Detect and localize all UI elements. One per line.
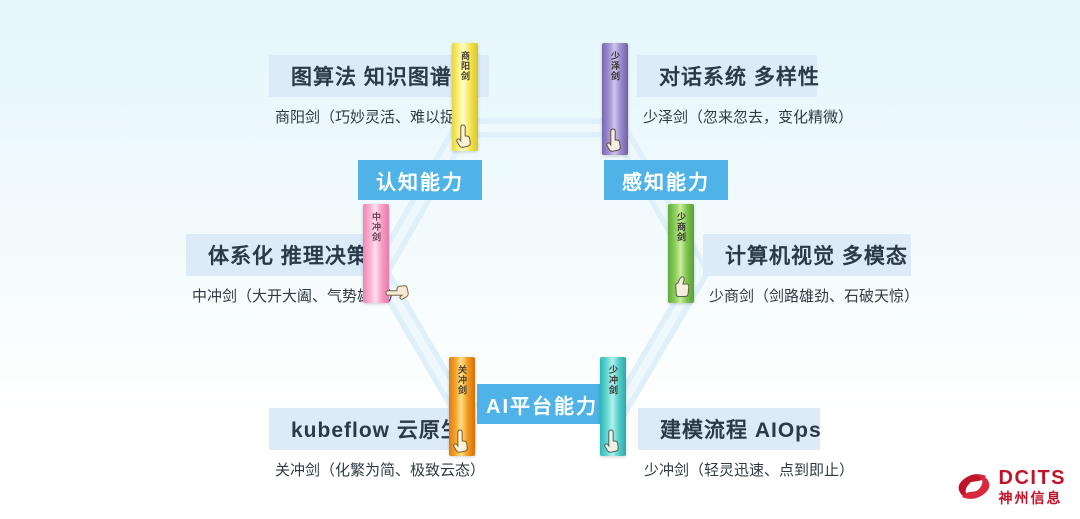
pointing-hand-icon [602, 427, 624, 453]
sword-label-shaoshang: 少商剑 [675, 212, 687, 242]
sword-label-shaoze: 少泽剑 [609, 51, 621, 81]
sword-label-guanchong: 关冲剑 [456, 365, 468, 395]
pointing-hand-icon [604, 126, 626, 152]
node-modeling-aiops: 建模流程 AIOps 少冲剑（轻灵迅速、点到即止） [638, 408, 820, 480]
node-kubeflow-cloudnative: kubeflow 云原生 关冲剑（化繁为简、极致云态） [269, 408, 476, 480]
sword-label-shaochong: 少冲剑 [607, 365, 619, 395]
sword-bar-shaoshang: 少商剑 [668, 204, 694, 303]
node-title-kubeflow: kubeflow 云原生 [291, 414, 463, 444]
node-title-band-computer-vision: 计算机视觉 多模态 [703, 234, 911, 276]
node-subtitle-computer-vision: 少商剑（剑路雄劲、石破天惊） [703, 285, 911, 306]
node-title-band-dialogue-system: 对话系统 多样性 [637, 55, 817, 97]
node-computer-vision: 计算机视觉 多模态 少商剑（剑路雄劲、石破天惊） [703, 234, 911, 306]
sword-bar-guanchong: 关冲剑 [449, 357, 475, 456]
side-pointing-hand-icon [383, 278, 411, 302]
slide-canvas: 图算法 知识图谱 商阳剑（巧妙灵活、难以捉摸） 商阳剑 少泽剑 对话系统 多样性… [0, 0, 1080, 519]
capability-chip-ai-platform-label: AI平台能力 [486, 390, 598, 419]
node-title-band-reasoning-decision: 体系化 推理决策 [186, 234, 382, 276]
node-title-band-modeling-aiops: 建模流程 AIOps [638, 408, 820, 450]
sword-bar-shangyang: 商阳剑 [452, 43, 478, 151]
node-subtitle-dialogue-system: 少泽剑（忽来忽去，变化精微） [637, 106, 817, 127]
capability-chip-perception-label: 感知能力 [622, 166, 710, 195]
pointing-hand-icon [454, 122, 476, 148]
sword-bar-shaochong: 少冲剑 [600, 357, 626, 456]
node-subtitle-modeling-aiops: 少冲剑（轻灵迅速、点到即止） [638, 459, 820, 480]
pointing-hand-icon [451, 427, 473, 453]
node-title-computer-vision: 计算机视觉 多模态 [725, 240, 908, 270]
thumbs-up-hand-icon [670, 274, 692, 300]
dcits-swirl-icon [956, 470, 992, 503]
sword-label-zhongchong: 中冲剑 [370, 212, 382, 242]
node-subtitle-reasoning-decision: 中冲剑（大开大阖、气势雄迈） [186, 285, 382, 306]
node-reasoning-decision: 体系化 推理决策 中冲剑（大开大阖、气势雄迈） [186, 234, 382, 306]
dcits-logo-cn: 神州信息 [999, 491, 1067, 505]
node-title-knowledge-graph: 图算法 知识图谱 [291, 61, 452, 91]
node-subtitle-kubeflow: 关冲剑（化繁为简、极致云态） [269, 459, 476, 480]
dcits-wordmark: DCITS 神州信息 [999, 468, 1067, 505]
dcits-logo: DCITS 神州信息 [956, 468, 1067, 505]
node-dialogue-system: 对话系统 多样性 少泽剑（忽来忽去，变化精微） [637, 55, 817, 127]
node-title-reasoning-decision: 体系化 推理决策 [208, 240, 369, 270]
dcits-logo-en: DCITS [999, 468, 1067, 488]
hexagon-connector-ring [0, 0, 1080, 519]
node-title-modeling-aiops: 建模流程 AIOps [660, 414, 822, 444]
sword-bar-shaoze: 少泽剑 [602, 43, 628, 155]
sword-label-shangyang: 商阳剑 [459, 51, 471, 81]
node-title-dialogue-system: 对话系统 多样性 [659, 61, 820, 91]
capability-chip-cognition-label: 认知能力 [376, 166, 464, 195]
node-title-band-kubeflow: kubeflow 云原生 [269, 408, 476, 450]
capability-chip-perception[interactable]: 感知能力 [604, 160, 728, 200]
capability-chip-ai-platform[interactable]: AI平台能力 [477, 384, 607, 424]
capability-chip-cognition[interactable]: 认知能力 [358, 160, 482, 200]
